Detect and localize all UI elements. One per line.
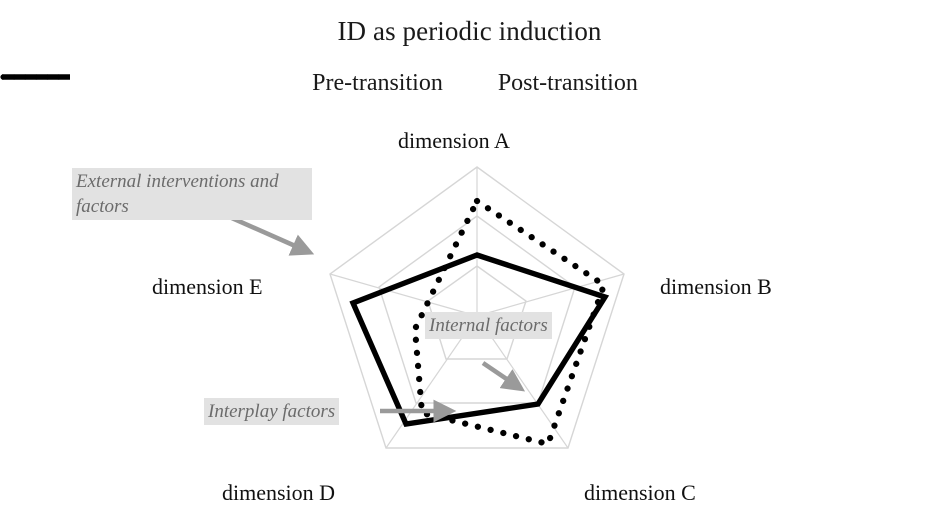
external-interventions-note: External interventions and factors	[72, 168, 312, 220]
annotation-arrows	[207, 207, 514, 411]
grid-spokes	[330, 167, 624, 448]
internal-factors-note: Internal factors	[425, 312, 552, 339]
series-post-transition-polygon	[353, 255, 605, 424]
radar-chart-figure: ID as periodic induction Pre-transition …	[0, 0, 939, 529]
internal-factors-arrow	[483, 363, 514, 384]
axis-label-dimension-e: dimension E	[152, 274, 263, 300]
grid-pentagons	[330, 167, 624, 448]
axis-label-dimension-a: dimension A	[398, 128, 510, 154]
interplay-factors-note: Interplay factors	[204, 398, 339, 425]
axis-label-dimension-b: dimension B	[660, 274, 772, 300]
axis-label-dimension-d: dimension D	[222, 480, 335, 506]
radar-plot	[0, 0, 939, 529]
axis-label-dimension-c: dimension C	[584, 480, 696, 506]
